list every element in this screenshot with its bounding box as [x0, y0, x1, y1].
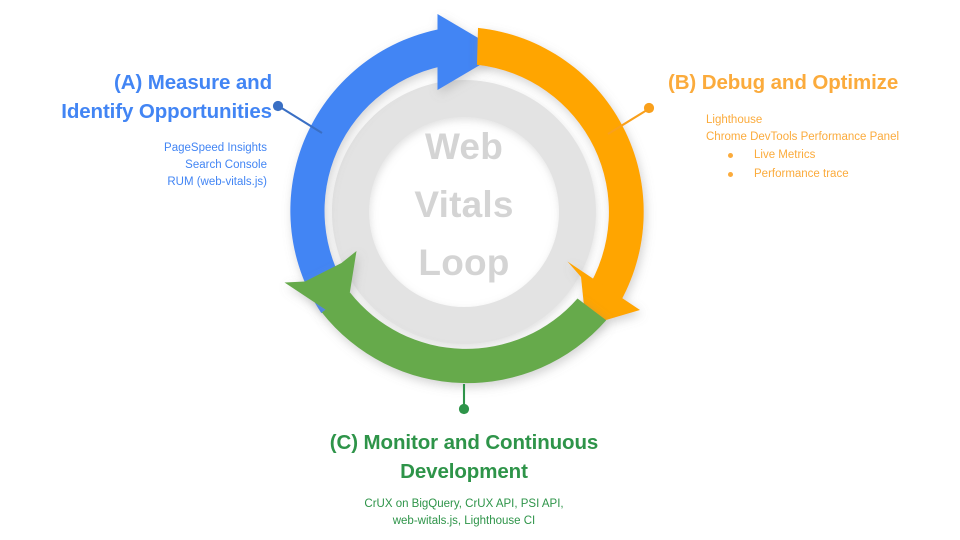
stage-a-heading-line-1: (A) Measure and: [0, 68, 272, 97]
center-label-line-1: Web: [364, 118, 564, 176]
connector-monitor: [459, 384, 469, 414]
bullet-icon: [728, 172, 733, 177]
stage-b-items: Lighthouse Chrome DevTools Performance P…: [668, 112, 958, 184]
center-label-line-2: Vitals: [364, 176, 564, 234]
stage-b-heading-line-1: (B) Debug and Optimize: [668, 68, 958, 97]
stage-a-measure[interactable]: (A) Measure and Identify Opportunities P…: [0, 68, 272, 191]
stage-b-debug[interactable]: (B) Debug and Optimize Lighthouse Chrome…: [668, 68, 958, 184]
stage-c-item: web-witals.js, Lighthouse CI: [262, 513, 666, 530]
stage-a-item: Search Console: [0, 157, 267, 174]
stage-b-item: Chrome DevTools Performance Panel: [706, 129, 958, 146]
connector-measure: [273, 101, 322, 133]
stage-c-item: CrUX on BigQuery, CrUX API, PSI API,: [262, 496, 666, 513]
stage-b-subitem-label: Live Metrics: [754, 149, 815, 161]
stage-a-item: PageSpeed Insights: [0, 140, 267, 157]
stage-c-items: CrUX on BigQuery, CrUX API, PSI API, web…: [262, 496, 666, 530]
stage-a-heading-line-2: Identify Opportunities: [0, 97, 272, 126]
bullet-icon: [728, 153, 733, 158]
stage-a-item: RUM (web-vitals.js): [0, 174, 267, 191]
stage-c-heading: (C) Monitor and Continuous Development: [262, 428, 666, 486]
stage-b-subitem: Performance trace: [728, 165, 958, 184]
diagram-canvas: Web Vitals Loop (A) Measure and Identify…: [0, 0, 960, 540]
stage-a-items: PageSpeed Insights Search Console RUM (w…: [0, 140, 272, 191]
stage-c-monitor[interactable]: (C) Monitor and Continuous Development C…: [262, 428, 666, 530]
center-label: Web Vitals Loop: [364, 118, 564, 292]
stage-a-heading: (A) Measure and Identify Opportunities: [0, 68, 272, 126]
stage-b-subitem: Live Metrics: [728, 146, 958, 165]
stage-b-subitem-list: Live Metrics Performance trace: [706, 146, 958, 184]
center-label-line-3: Loop: [364, 234, 564, 292]
stage-b-subitem-label: Performance trace: [754, 168, 849, 180]
stage-b-item: Lighthouse: [706, 112, 958, 129]
stage-b-heading: (B) Debug and Optimize: [668, 68, 958, 97]
stage-c-heading-line-2: Development: [262, 457, 666, 486]
stage-c-heading-line-1: (C) Monitor and Continuous: [262, 428, 666, 457]
